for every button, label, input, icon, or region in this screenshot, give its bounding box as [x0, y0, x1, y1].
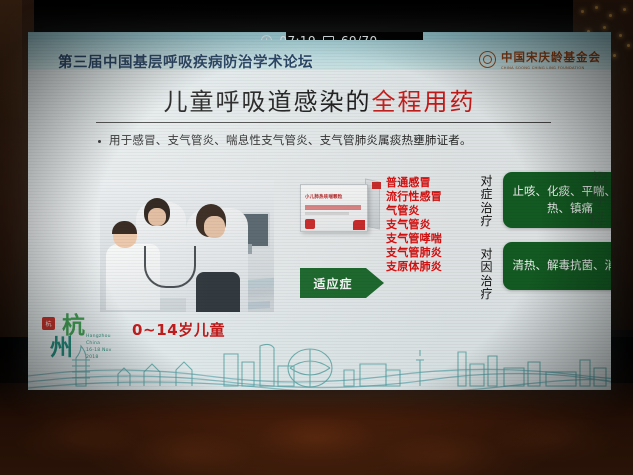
- causal-treatment-label: 对因治疗: [479, 248, 495, 302]
- bullet-row: 用于感冒、支气管炎、喘息性支气管炎、支气管肺炎属痰热壅肺证者。: [98, 132, 598, 148]
- seal-icon: [479, 51, 496, 68]
- hangzhou-en-line-3: 16-18 Nov: [86, 348, 112, 355]
- title-divider: [96, 122, 551, 123]
- sponsor-name-cn: 中国宋庆龄基金会: [501, 49, 601, 65]
- hangzhou-en-text: Hangzhou China 16-18 Nov 2018: [86, 334, 112, 362]
- slide-title: 儿童呼吸道感染的全程用药: [28, 82, 611, 117]
- hangzhou-en-line-2: China: [86, 341, 112, 348]
- arrow-label: 适应症: [300, 268, 366, 298]
- conference-room-scene: 07:19 69/70 第三届中国基层呼吸疾病防治学术论坛 中国宋庆龄基金会 C…: [0, 0, 633, 475]
- medicine-package-band2: [305, 212, 349, 215]
- list-item: 支气管炎: [386, 218, 442, 232]
- left-wall-panel: [0, 0, 22, 120]
- causal-treatment-box: 清热、解毒抗菌、消炎: [503, 242, 611, 290]
- stethoscope-icon: [144, 246, 196, 288]
- list-item: 支气管哮喘: [386, 232, 442, 246]
- sponsor-logo: 中国宋庆龄基金会 CHINA SOONG CHING LING FOUNDATI…: [479, 49, 601, 70]
- bullet-text: 用于感冒、支气管炎、喘息性支气管炎、支气管肺炎属痰热壅肺证者。: [109, 132, 472, 148]
- carpet-floor: [0, 383, 633, 475]
- medicine-package-label: 小儿肺热咳喘颗粒: [305, 194, 343, 200]
- ceiling: [0, 0, 633, 34]
- symptomatic-treatment-label: 对症治疗: [479, 175, 495, 229]
- hangzhou-en-line-1: Hangzhou: [86, 334, 112, 341]
- medicine-package: 小儿肺热咳喘颗粒: [300, 178, 378, 232]
- list-item: 气管炎: [386, 204, 442, 218]
- indication-arrow: 适应症: [300, 268, 384, 298]
- photo-parent-face: [148, 208, 166, 226]
- slide-footer-decoration: 杭 杭 州 Hangzhou China 16-18 Nov 2018 0~14…: [28, 306, 611, 390]
- medicine-package-band: [305, 205, 361, 210]
- conference-title: 第三届中国基层呼吸疾病防治学术论坛: [58, 51, 313, 72]
- arrow-head-icon: [366, 268, 384, 298]
- medicine-package-tab: [372, 182, 381, 189]
- medicine-package-face: 小儿肺热咳喘颗粒: [300, 184, 368, 232]
- projection-screen: 07:19 69/70 第三届中国基层呼吸疾病防治学术论坛 中国宋庆龄基金会 C…: [28, 32, 611, 390]
- age-range-tag: 0~14岁儿童: [132, 319, 225, 340]
- hangzhou-en-line-4: 2018: [86, 355, 112, 362]
- hangzhou-skyline-graphic: [28, 326, 611, 390]
- indication-list: 普通感冒 流行性感冒 气管炎 支气管炎 支气管哮喘 支气管肺炎 支原体肺炎: [386, 176, 442, 275]
- slide-body: 儿童呼吸道感染的全程用药 用于感冒、支气管炎、喘息性支气管炎、支气管肺炎属痰热壅…: [28, 70, 611, 390]
- list-item: 流行性感冒: [386, 190, 442, 204]
- slide-title-red: 全程用药: [372, 88, 476, 116]
- hangzhou-seal-icon: 杭: [42, 317, 55, 330]
- conference-banner: 第三届中国基层呼吸疾病防治学术论坛 中国宋庆龄基金会 CHINA SOONG C…: [28, 40, 611, 70]
- clinic-photo: [100, 180, 274, 312]
- hangzhou-char-2: 州: [50, 336, 73, 359]
- slide-title-black: 儿童呼吸道感染的: [164, 88, 372, 116]
- slide-watermark: 福呼科: [581, 169, 611, 231]
- list-item: 普通感冒: [386, 176, 442, 190]
- medicine-package-corner: [353, 220, 365, 230]
- photo-doctor-face: [204, 216, 225, 238]
- list-item: 支气管肺炎: [386, 246, 442, 260]
- medicine-brand-icon: [305, 219, 315, 229]
- bullet-dot-icon: [98, 140, 101, 143]
- hangzhou-event-logo: 杭 杭 州 Hangzhou China 16-18 Nov 2018: [40, 314, 114, 366]
- list-item: 支原体肺炎: [386, 260, 442, 274]
